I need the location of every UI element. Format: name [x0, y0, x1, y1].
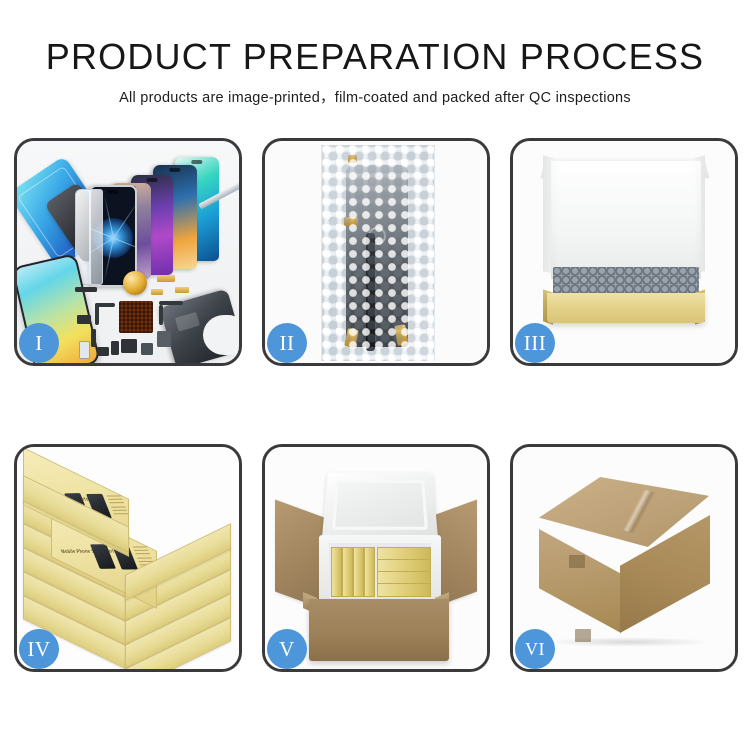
- process-step-3: III: [510, 138, 738, 366]
- step-badge-3: III: [515, 323, 555, 363]
- flex-cable: [95, 303, 99, 325]
- spare-parts-group: [75, 269, 201, 363]
- step-badge-4: IV: [19, 629, 59, 669]
- kraft-box-base: [547, 293, 705, 323]
- page-title: PRODUCT PREPARATION PROCESS: [0, 38, 750, 76]
- flex-cable: [159, 305, 163, 325]
- step-badge-2: II: [267, 323, 307, 363]
- small-part: [97, 347, 109, 356]
- carton-left-face: [539, 529, 621, 633]
- process-step-grid: I II: [14, 138, 738, 672]
- small-part: [157, 331, 171, 347]
- foam-cavity: [329, 543, 431, 599]
- process-step-1: I: [14, 138, 242, 366]
- small-part: [141, 343, 153, 355]
- inner-box: [331, 547, 342, 597]
- page-subtitle: All products are image-printed，film-coat…: [0, 86, 750, 107]
- process-step-4: Mobile Phone Spare Parts Mobile Phone Sp…: [14, 444, 242, 672]
- product-preparation-process-infographic: PRODUCT PREPARATION PROCESS All products…: [0, 0, 750, 750]
- gold-connector: [151, 289, 163, 295]
- carton-front-face: [309, 599, 449, 661]
- inner-box: [364, 547, 375, 597]
- process-step-5: V: [262, 444, 490, 672]
- gold-connector: [157, 275, 175, 282]
- box-lid-front: [551, 161, 701, 279]
- speaker-coil-part: [123, 271, 147, 295]
- chip-grid-part: [119, 301, 153, 333]
- step-badge-5: V: [267, 629, 307, 669]
- bubble-wrap-bag: [321, 145, 435, 361]
- step-badge-1: I: [19, 323, 59, 363]
- header: PRODUCT PREPARATION PROCESS All products…: [0, 0, 750, 107]
- bubble-texture-upper: [322, 145, 434, 361]
- inner-box: [353, 547, 364, 597]
- flex-cable: [159, 301, 183, 305]
- small-part: [75, 287, 97, 292]
- gold-connector: [175, 287, 189, 293]
- small-part: [77, 315, 91, 324]
- small-part: [91, 329, 96, 347]
- small-part: [79, 341, 90, 359]
- carton-shadow: [545, 637, 711, 647]
- foam-lid: [322, 472, 438, 539]
- process-step-6: VI: [510, 444, 738, 672]
- process-step-2: II: [262, 138, 490, 366]
- small-part: [121, 339, 137, 353]
- inner-box: [342, 547, 353, 597]
- inner-box: [377, 583, 431, 597]
- carton-tape-patch: [569, 555, 585, 568]
- step-badge-6: VI: [515, 629, 555, 669]
- hand-silhouette: [203, 315, 239, 355]
- small-part: [111, 341, 119, 355]
- phone-lineup: [89, 155, 239, 275]
